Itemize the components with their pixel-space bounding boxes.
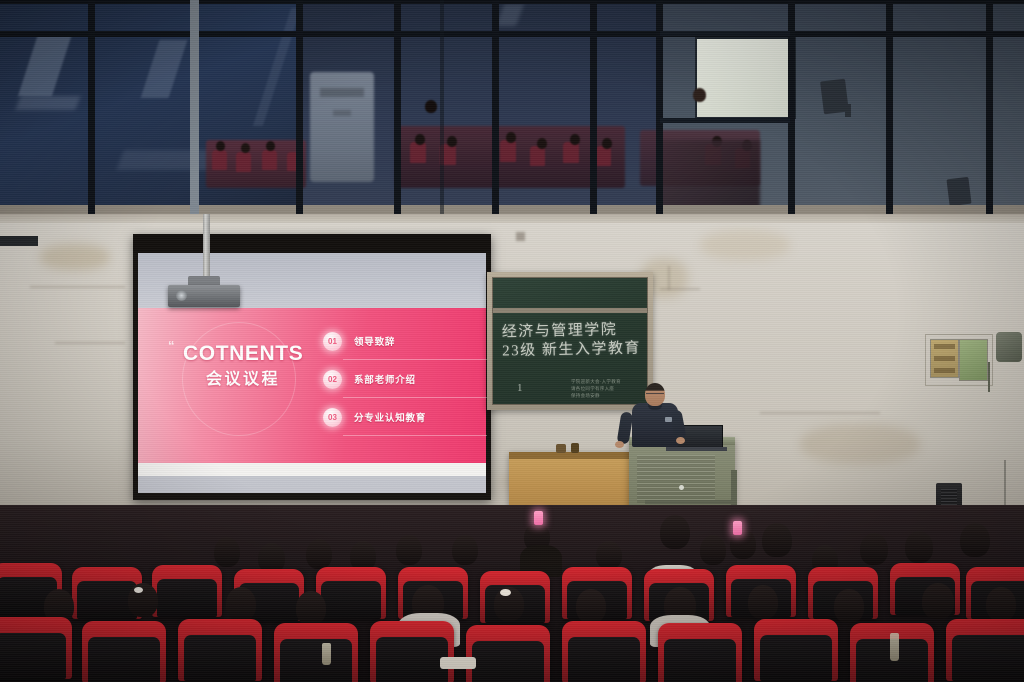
- podium-object: [556, 444, 566, 453]
- blackboard-text: 经济与管理学院 23级 新生入学教育: [502, 321, 642, 361]
- blackboard-line-2: 23级 新生入学教育: [502, 339, 641, 361]
- water-bottle-icon-2: [890, 633, 899, 661]
- quote-mark-icon: “: [168, 339, 174, 352]
- agenda-label: 系部老师介绍: [354, 372, 416, 386]
- slide-title-en: COTNENTS: [183, 342, 303, 366]
- presentation-slide: “ COTNENTS 会议议程 01 领导致辞 02 系部老师介绍: [138, 308, 486, 463]
- wall-trim: [0, 214, 1024, 223]
- far-projection-screen: [695, 37, 796, 119]
- water-bottle-icon: [322, 643, 331, 665]
- lectern-crossbar: [645, 500, 733, 504]
- agenda-bullet-icon: 02: [323, 370, 342, 389]
- blackboard-small-note: 学院迎新大会·入学教育 请各位同学有序入座 保持会场安静: [571, 379, 621, 399]
- agenda-label: 分专业认知教育: [354, 410, 426, 424]
- agenda-bullet-icon: 01: [323, 332, 342, 351]
- upper-glass-wall: [0, 0, 1024, 214]
- agenda-divider: [343, 435, 487, 436]
- corner-bracket-icon: [996, 332, 1022, 362]
- blackboard-corner-number: 1: [517, 382, 523, 394]
- blackboard-surface: 经济与管理学院 23级 新生入学教育 1 学院迎新大会·入学教育 请各位同学有序…: [492, 277, 648, 405]
- agenda-item: 02 系部老师介绍: [323, 360, 473, 398]
- wall-plate-icon: [0, 236, 38, 246]
- glasses-icon: [646, 393, 664, 398]
- presenter-hand-left: [615, 441, 624, 448]
- agenda-label: 领导致辞: [354, 334, 395, 348]
- projection-screen: “ COTNENTS 会议议程 01 领导致辞 02 系部老师介绍: [133, 234, 491, 500]
- projector-lens-icon: [176, 290, 187, 301]
- agenda-list: 01 领导致辞 02 系部老师介绍 03 分专业认知教育: [323, 322, 473, 436]
- agenda-bullet-icon: 03: [323, 408, 342, 427]
- slide-title-cn: 会议议程: [206, 365, 280, 389]
- blackboard: 经济与管理学院 23级 新生入学教育 1 学院迎新大会·入学教育 请各位同学有序…: [487, 272, 653, 410]
- far-speaker-icon-2: [946, 177, 971, 206]
- presenter-shirt-logo: [665, 417, 672, 422]
- laptop-base: [666, 447, 727, 451]
- paper-sheet: [440, 657, 476, 669]
- slide-bottom-bar: [138, 463, 486, 476]
- agenda-item: 03 分专业认知教育: [323, 398, 473, 436]
- screen-top-bar: [133, 234, 491, 253]
- audience-area: [0, 505, 1024, 682]
- agenda-item: 01 领导致辞: [323, 322, 473, 360]
- podium-object-2: [571, 443, 579, 453]
- hair-clip-icon: [134, 587, 143, 593]
- phone-screen-icon-2: [733, 521, 742, 535]
- auditorium-photo: “ COTNENTS 会议议程 01 领导致辞 02 系部老师介绍: [0, 0, 1024, 682]
- blackboard-rail: [493, 308, 647, 313]
- presenter-hand-right: [676, 437, 685, 444]
- phone-screen-icon: [534, 511, 543, 525]
